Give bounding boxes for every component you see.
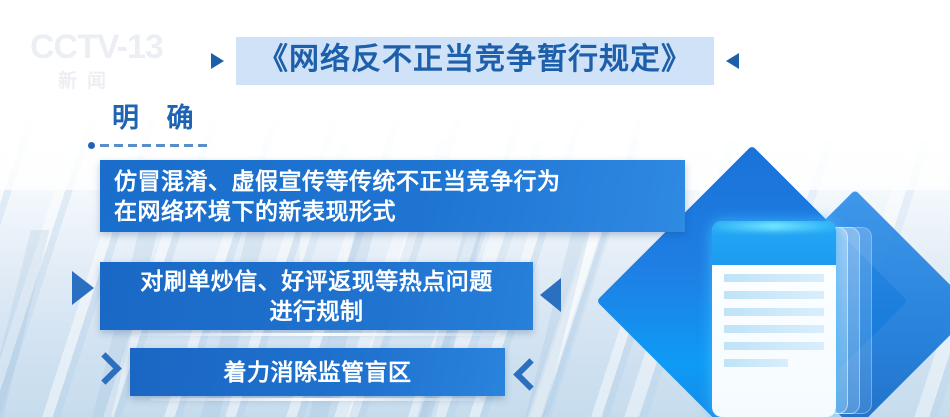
triangle-right-icon (72, 271, 94, 305)
document-glow-edge (712, 221, 836, 231)
document-line (724, 342, 824, 350)
point-box-1: 仿冒混淆、虚假宣传等传统不正当竞争行为 在网络环境下的新表现形式 (100, 160, 685, 232)
point-box-3: 着力消除监管盲区 (130, 348, 505, 396)
section-label: 明 确 (112, 103, 204, 133)
triangle-left-icon (540, 278, 561, 312)
page-title: 《网络反不正当竞争暂行规定》 (258, 43, 692, 77)
dash-segment (100, 144, 109, 147)
section-label-text: 明 确 (112, 103, 204, 133)
broadcast-graphic-screen: CCTV-13 新闻 《网络反不正当竞争暂行规定》 明 确 仿冒混淆、虚假宣传等… (0, 0, 950, 417)
document-page-icon (712, 221, 836, 417)
point-box-2: 对刷单炒信、好评返现等热点问题 进行规制 (100, 262, 533, 330)
document-line (724, 291, 824, 299)
dash-segment (114, 144, 123, 147)
dash-segment (156, 144, 165, 147)
point-text-1: 仿冒混淆、虚假宣传等传统不正当竞争行为 在网络环境下的新表现形式 (114, 166, 561, 226)
point-text-2: 对刷单炒信、好评返现等热点问题 进行规制 (140, 266, 493, 326)
document-line (724, 308, 824, 316)
document-line (724, 359, 788, 367)
document-card-stack (712, 221, 852, 416)
dash-segment (128, 144, 137, 147)
dot-icon (88, 142, 95, 149)
section-dashed-rule (88, 142, 207, 149)
triangle-right-icon (211, 53, 224, 69)
dash-segment (142, 144, 151, 147)
dash-segment (170, 144, 179, 147)
triangle-left-icon (726, 53, 739, 69)
document-line (724, 325, 824, 333)
dash-segment (198, 144, 207, 147)
document-line (724, 274, 824, 282)
document-text-lines (712, 265, 836, 367)
point-text-3: 着力消除监管盲区 (224, 357, 412, 387)
title-band: 《网络反不正当竞争暂行规定》 (236, 37, 714, 85)
point-underline-2 (140, 333, 500, 336)
dash-segment (184, 144, 193, 147)
point-underline-3 (150, 398, 480, 401)
title-banner: 《网络反不正当竞争暂行规定》 (0, 37, 950, 85)
